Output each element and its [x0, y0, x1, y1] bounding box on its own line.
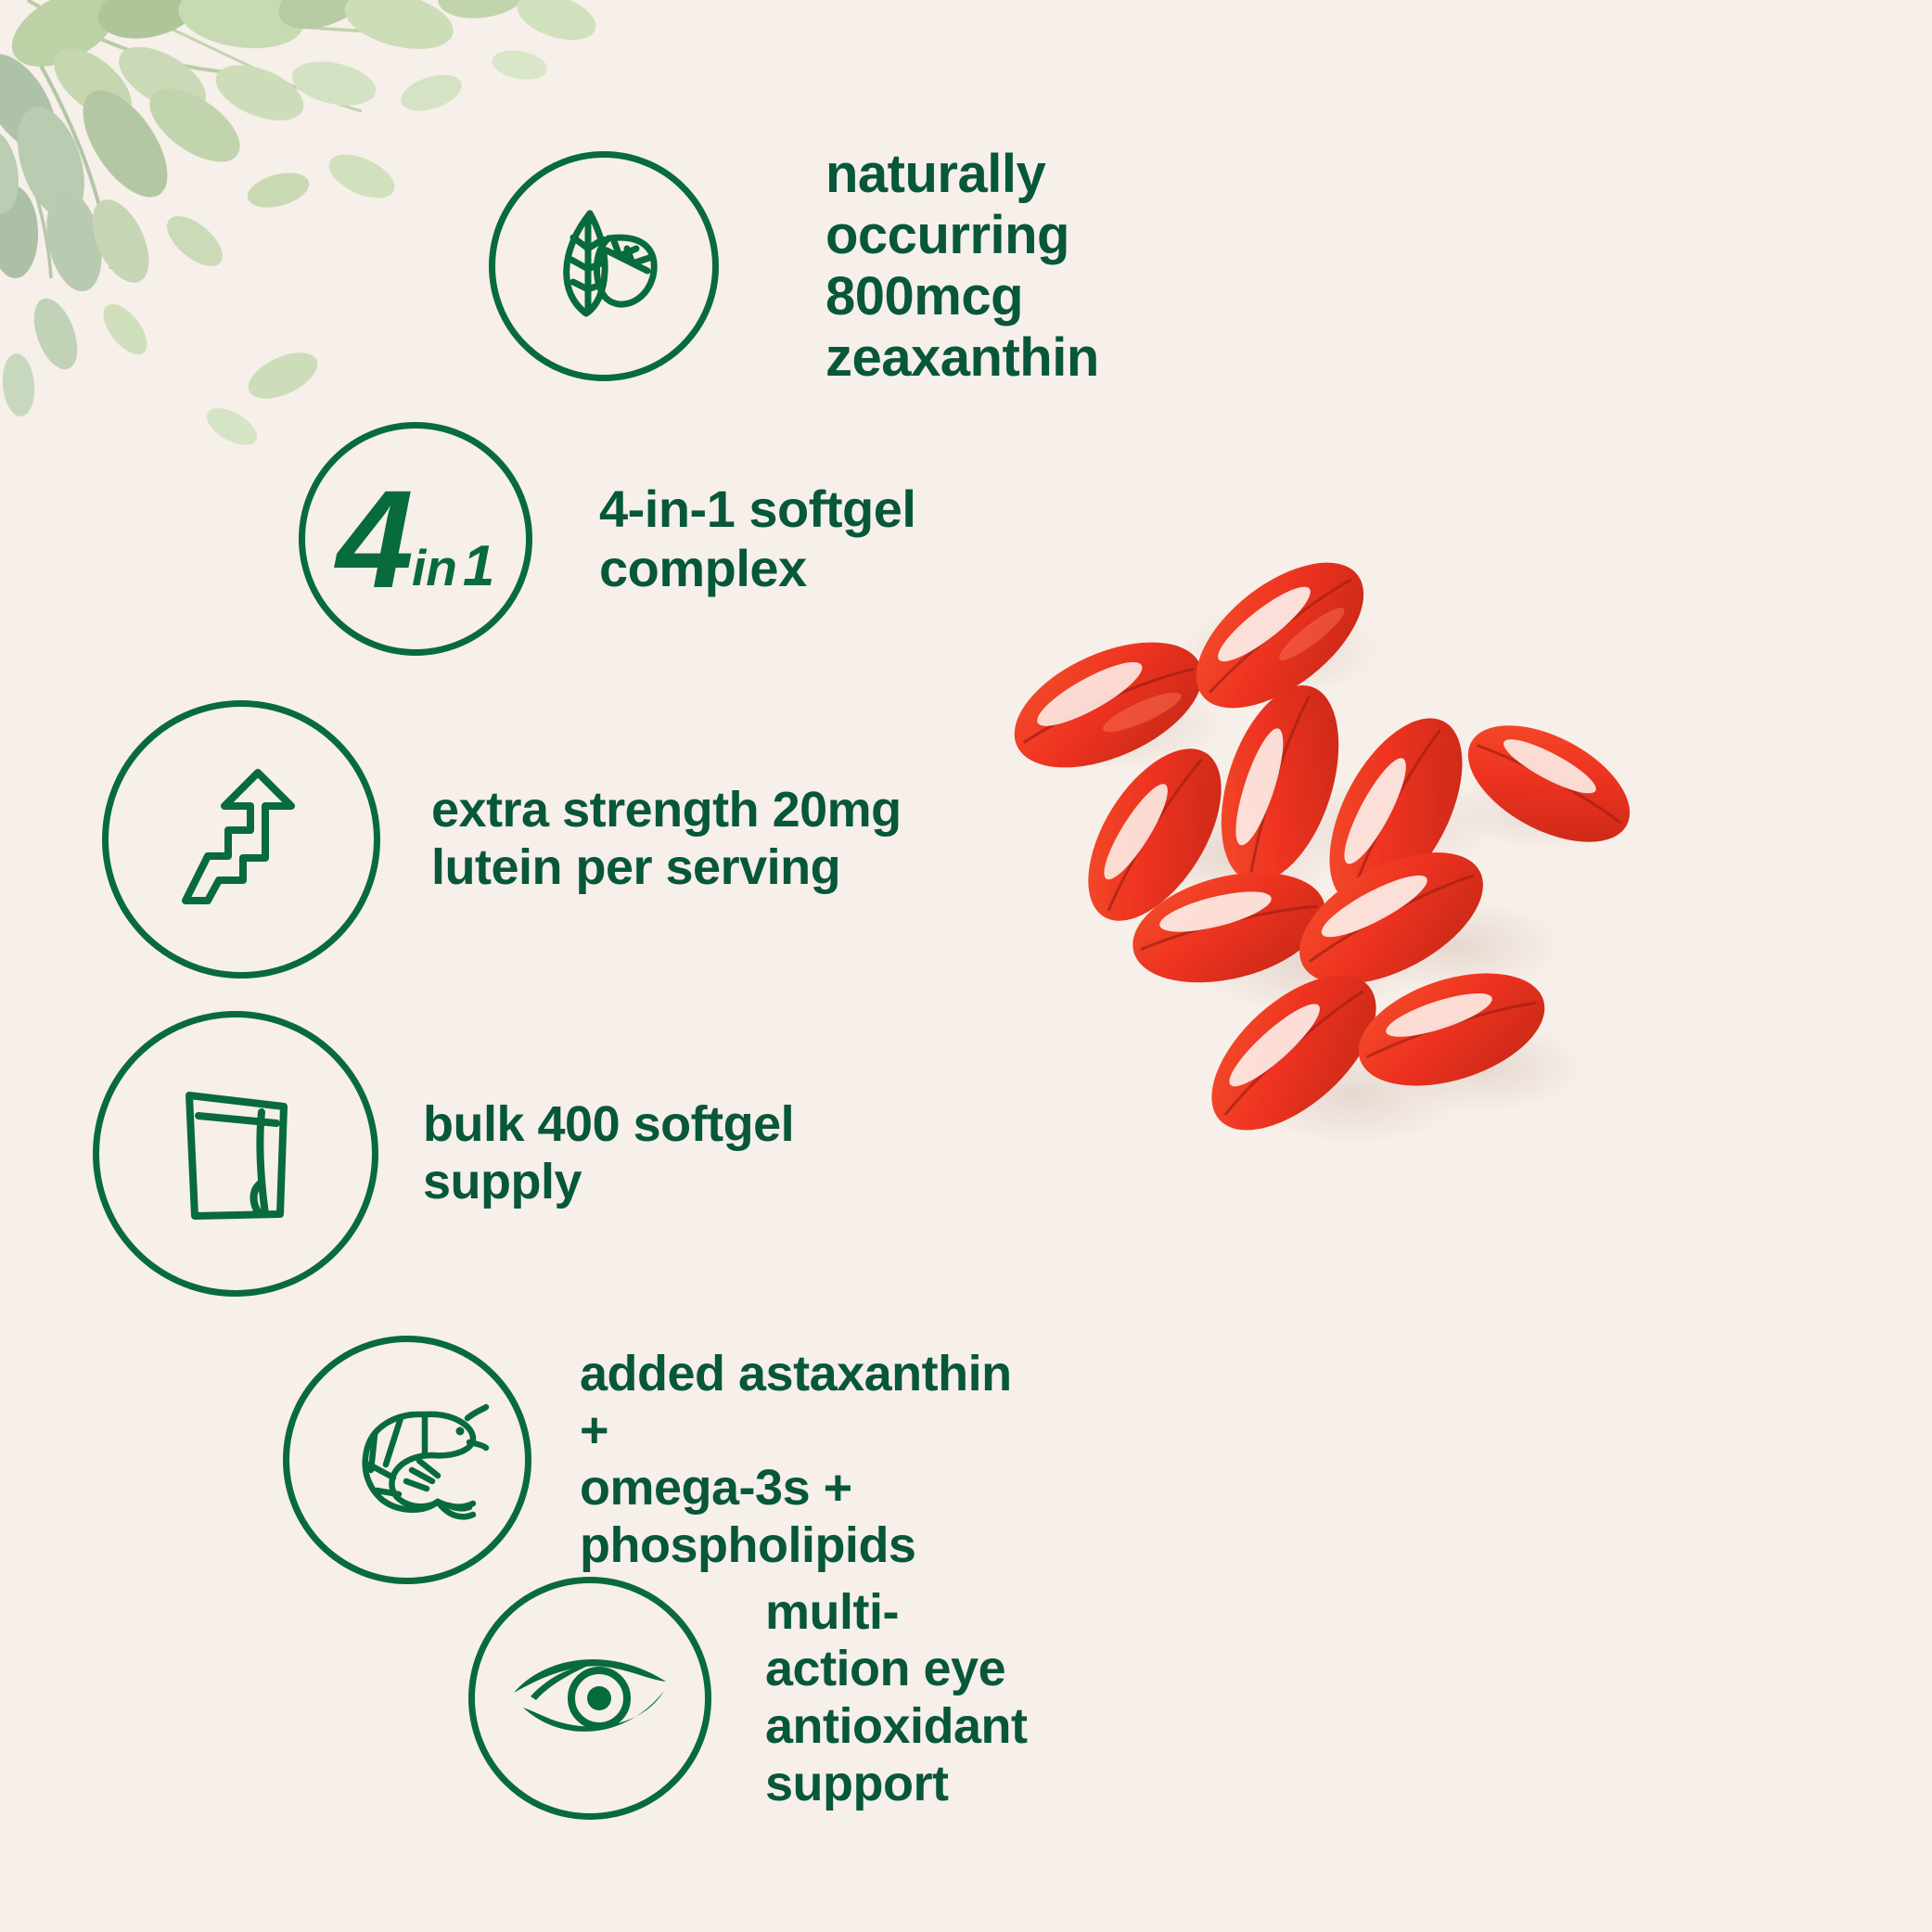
four-in-one-badge-icon: 4 in 1 — [299, 422, 532, 656]
feature-label-zeaxanthin: naturally occurring 800mcg zeaxanthin — [825, 144, 1099, 389]
feature-item-eye-support[interactable]: multi-action eye antioxidant support — [468, 1577, 1028, 1820]
infographic-canvas: naturally occurring 800mcg zeaxanthin 4 … — [0, 0, 1932, 1932]
badge-one-number: 1 — [463, 538, 494, 595]
feature-label-astaxanthin: added astaxanthin + omega-3s + phospholi… — [580, 1346, 1020, 1574]
stair-step-up-arrow-icon — [102, 700, 380, 979]
feature-list: naturally occurring 800mcg zeaxanthin 4 … — [0, 0, 1020, 1932]
feature-label-eye-support: multi-action eye antioxidant support — [765, 1584, 1028, 1812]
eye-icon — [468, 1577, 711, 1820]
feature-item-astaxanthin[interactable]: added astaxanthin + omega-3s + phospholi… — [283, 1336, 1020, 1584]
red-softgel-capsules-photo — [1002, 547, 1670, 1280]
feature-label-four-in-one: 4-in-1 softgel complex — [599, 480, 1020, 598]
feature-item-four-in-one[interactable]: 4 in 1 4-in-1 softgel complex — [299, 422, 1020, 656]
feature-label-bulk-supply: bulk 400 softgel supply — [423, 1096, 794, 1210]
badge-in-text: in — [412, 543, 457, 594]
feature-item-bulk-supply[interactable]: bulk 400 softgel supply — [93, 1011, 794, 1297]
feature-item-zeaxanthin[interactable]: naturally occurring 800mcg zeaxanthin — [490, 144, 1099, 389]
shrimp-icon — [283, 1336, 531, 1584]
badge-number: 4 — [337, 469, 408, 608]
two-leaves-icon — [489, 151, 719, 381]
feature-item-extra-strength[interactable]: extra strength 20mg lutein per serving — [102, 700, 902, 979]
feature-label-extra-strength: extra strength 20mg lutein per serving — [431, 782, 902, 896]
pouch-bag-icon — [93, 1011, 378, 1297]
